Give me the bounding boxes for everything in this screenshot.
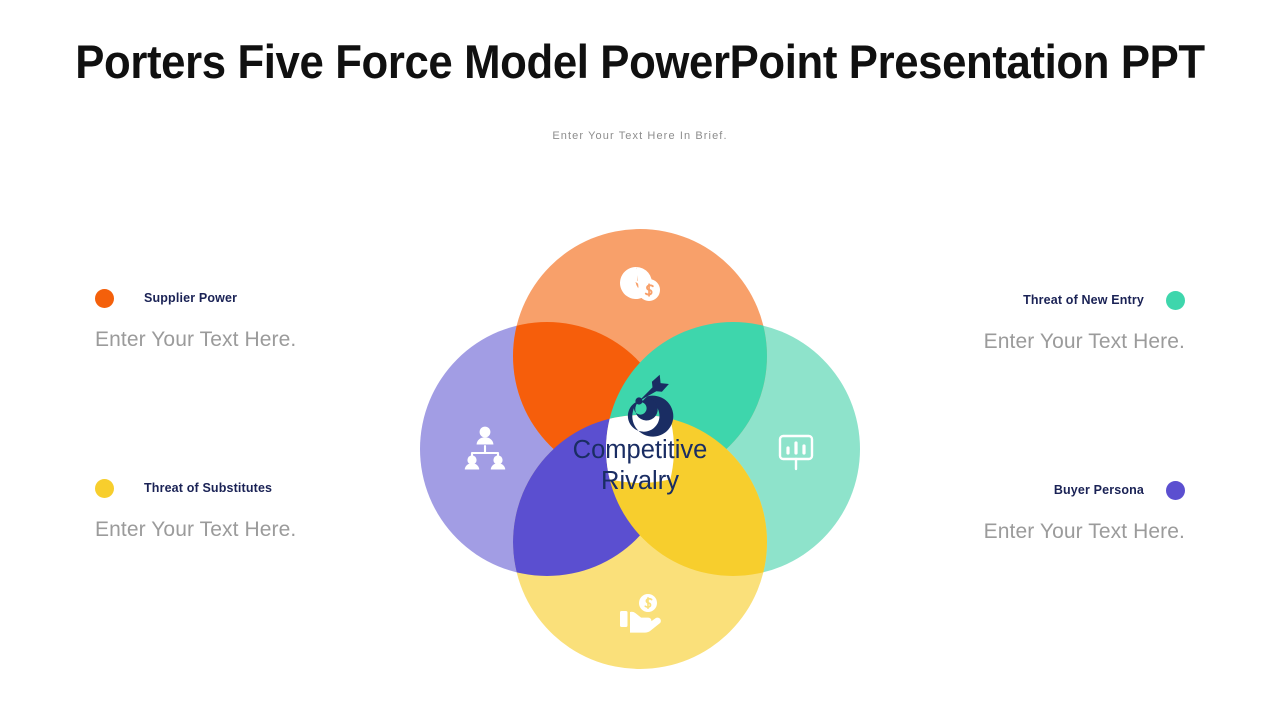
force-block-threat-of-new-entry[interactable]: Threat of New Entry Enter Your Text Here… [855, 290, 1185, 354]
center-label-line1: Competitive [573, 436, 708, 464]
force-label-row: Threat of Substitutes [95, 478, 425, 498]
force-label-supplier-power: Supplier Power [144, 291, 237, 305]
force-label-row: Buyer Persona [855, 480, 1185, 500]
page-subtitle: Enter Your Text Here In Brief. [0, 130, 1280, 142]
threat-of-substitutes-dot-icon [95, 479, 114, 498]
supplier-power-dot-icon [95, 289, 114, 308]
force-label-row: Supplier Power [95, 288, 425, 308]
threat-of-new-entry-dot-icon [1166, 291, 1185, 310]
buyer-persona-dot-icon [1166, 481, 1185, 500]
force-body-buyer-persona: Enter Your Text Here. [855, 520, 1185, 544]
force-label-row: Threat of New Entry [855, 290, 1185, 310]
force-block-supplier-power[interactable]: Supplier Power Enter Your Text Here. [95, 288, 425, 352]
page-title: Porters Five Force Model PowerPoint Pres… [45, 34, 1235, 89]
force-block-buyer-persona[interactable]: Buyer Persona Enter Your Text Here. [855, 480, 1185, 544]
force-body-threat-of-new-entry: Enter Your Text Here. [855, 330, 1185, 354]
force-block-threat-of-substitutes[interactable]: Threat of Substitutes Enter Your Text He… [95, 478, 425, 542]
center-label-line2: Rivalry [601, 467, 679, 495]
force-body-supplier-power: Enter Your Text Here. [95, 328, 425, 352]
force-label-threat-of-new-entry: Threat of New Entry [1023, 293, 1144, 307]
force-label-buyer-persona: Buyer Persona [1054, 483, 1144, 497]
venn-diagram: Competitive Rivalry [399, 208, 881, 690]
force-body-threat-of-substitutes: Enter Your Text Here. [95, 518, 425, 542]
force-label-threat-of-substitutes: Threat of Substitutes [144, 481, 272, 495]
